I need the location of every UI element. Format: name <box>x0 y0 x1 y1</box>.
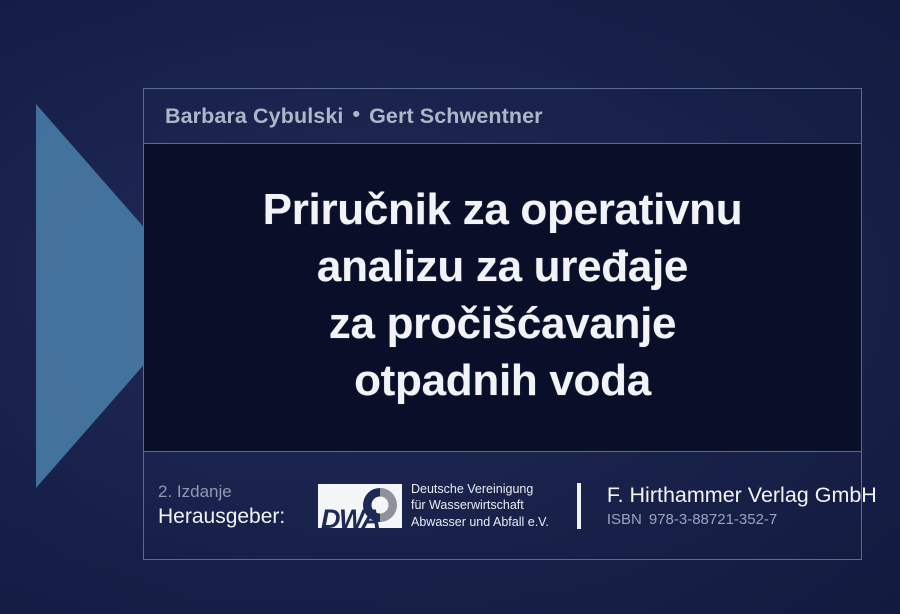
title-line-3: za pročišćavanje <box>263 295 743 352</box>
edition-block: 2. Izdanje Herausgeber: <box>158 480 318 532</box>
title-band: Priručnik za operativnu analizu za uređa… <box>144 144 861 452</box>
footer-band: 2. Izdanje Herausgeber: DWA Deutsche Ver… <box>144 452 861 559</box>
isbn-number: 978-3-88721-352-7 <box>642 511 777 528</box>
publisher-name: F. Hirthammer Verlag GmbH <box>607 481 877 509</box>
publisher-block: F. Hirthammer Verlag GmbH ISBN978-3-8872… <box>607 481 877 531</box>
author-separator-icon: • <box>343 102 369 127</box>
dwa-name-line-2: für Wasserwirtschaft <box>411 497 549 514</box>
isbn-label: ISBN <box>607 511 642 528</box>
author-name-second: Gert Schwentner <box>369 104 543 128</box>
edition-label: 2. Izdanje <box>158 480 318 504</box>
book-title: Priručnik za operativnu analizu za uređa… <box>263 181 743 415</box>
book-cover: Barbara Cybulski•Gert Schwentner Priručn… <box>0 0 900 614</box>
dwa-wordmark: DWA <box>321 504 380 528</box>
title-line-4: otpadnih voda <box>263 352 743 409</box>
dwa-organization-name: Deutsche Vereinigung für Wasserwirtschaf… <box>411 481 549 531</box>
dwa-logo: DWA <box>318 484 402 528</box>
publisher-role-label: Herausgeber: <box>158 504 318 530</box>
cover-frame-panel: Barbara Cybulski•Gert Schwentner Priručn… <box>143 88 862 560</box>
footer-vertical-divider <box>577 483 581 529</box>
isbn-line: ISBN978-3-88721-352-7 <box>607 509 877 531</box>
authors-band: Barbara Cybulski•Gert Schwentner <box>144 89 861 144</box>
title-line-1: Priručnik za operativnu <box>263 181 743 238</box>
dwa-name-line-3: Abwasser und Abfall e.V. <box>411 514 549 531</box>
authors-line: Barbara Cybulski•Gert Schwentner <box>165 104 543 129</box>
author-name-first: Barbara Cybulski <box>165 104 343 128</box>
title-line-2: analizu za uređaje <box>263 238 743 295</box>
dwa-name-line-1: Deutsche Vereinigung <box>411 481 549 498</box>
